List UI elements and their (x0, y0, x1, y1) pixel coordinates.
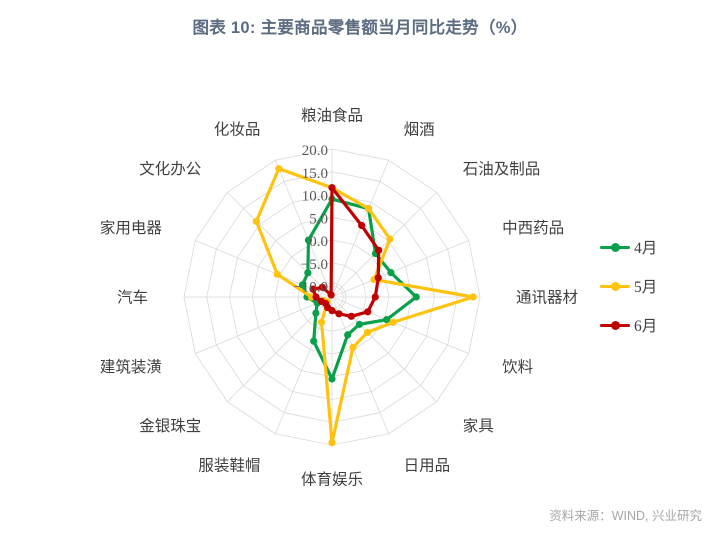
axis-tick-label: 0.0 (309, 234, 328, 250)
axis-label-6: 家具 (463, 417, 494, 435)
data-point[interactable] (375, 274, 382, 281)
data-point[interactable] (386, 235, 393, 242)
data-point[interactable] (335, 310, 342, 317)
data-point[interactable] (387, 269, 394, 276)
axis-label-13: 家用电器 (100, 219, 163, 237)
legend-item-2[interactable]: 6月 (600, 314, 657, 336)
data-point[interactable] (275, 165, 282, 172)
grid-spoke (332, 297, 389, 434)
axis-tick-label: 20.0 (302, 143, 328, 159)
axis-label-15: 化妆品 (214, 120, 261, 138)
data-point[interactable] (470, 293, 477, 300)
axis-tick-label: 5.0 (309, 211, 328, 227)
axis-tick-label: −5.0 (301, 257, 328, 273)
axis-label-14: 文化办公 (139, 160, 201, 178)
legend-label: 5月 (634, 275, 657, 297)
data-point[interactable] (364, 329, 371, 336)
legend-item-0[interactable]: 4月 (600, 236, 657, 258)
legend-swatch-icon (600, 318, 630, 332)
data-point[interactable] (372, 293, 379, 300)
axis-label-11: 建筑装潢 (100, 358, 162, 376)
data-point[interactable] (413, 293, 420, 300)
legend-swatch-icon (600, 279, 630, 293)
data-point[interactable] (349, 344, 356, 351)
legend-label: 6月 (634, 314, 657, 336)
axis-tick-label: 10.0 (302, 189, 328, 205)
grid-spoke (332, 240, 469, 297)
axis-label-2: 石油及制品 (463, 160, 541, 178)
axis-category-labels: 粮油食品烟酒石油及制品中西药品通讯器材饮料家具日用品体育娱乐服装鞋帽金银珠宝建筑… (100, 107, 578, 489)
legend-item-1[interactable]: 5月 (600, 275, 657, 297)
axis-label-5: 饮料 (502, 358, 533, 376)
axis-label-10: 金银珠宝 (139, 417, 201, 435)
data-point[interactable] (344, 331, 351, 338)
data-point[interactable] (365, 205, 372, 212)
source-note: 资料来源：WIND, 兴业研究 (549, 505, 702, 524)
grid-spoke (195, 297, 332, 354)
axis-tick-label: 15.0 (302, 166, 328, 182)
data-point[interactable] (328, 184, 335, 191)
data-point[interactable] (310, 338, 317, 345)
axis-label-7: 日用品 (404, 458, 451, 475)
data-point[interactable] (328, 375, 335, 382)
data-point[interactable] (312, 310, 319, 317)
data-point[interactable] (274, 271, 281, 278)
data-point[interactable] (364, 308, 371, 315)
data-point[interactable] (356, 321, 363, 328)
axis-label-0: 粮油食品 (301, 107, 363, 125)
axis-label-8: 体育娱乐 (301, 471, 363, 489)
data-point[interactable] (328, 439, 335, 446)
data-point[interactable] (328, 291, 335, 298)
tick-labels: 20.015.010.05.00.0−5.0−10.0 (293, 143, 328, 296)
data-point[interactable] (375, 247, 382, 254)
axis-label-3: 中西药品 (502, 219, 564, 237)
axis-label-4: 通讯器材 (516, 289, 578, 307)
data-point[interactable] (318, 319, 325, 326)
axis-tick-label: −10.0 (293, 280, 328, 296)
legend-swatch-icon (600, 240, 630, 254)
data-point[interactable] (358, 222, 365, 229)
legend-label: 4月 (634, 236, 657, 258)
data-point[interactable] (348, 313, 355, 320)
axis-label-12: 汽车 (117, 289, 148, 307)
axis-label-9: 服装鞋帽 (198, 457, 260, 475)
data-point[interactable] (389, 319, 396, 326)
page-title: 图表 10: 主要商品零售额当月同比走势（%） (0, 14, 720, 38)
axis-label-1: 烟酒 (404, 120, 435, 138)
chart-legend: 4月5月6月 (600, 236, 657, 336)
data-point[interactable] (253, 218, 260, 225)
